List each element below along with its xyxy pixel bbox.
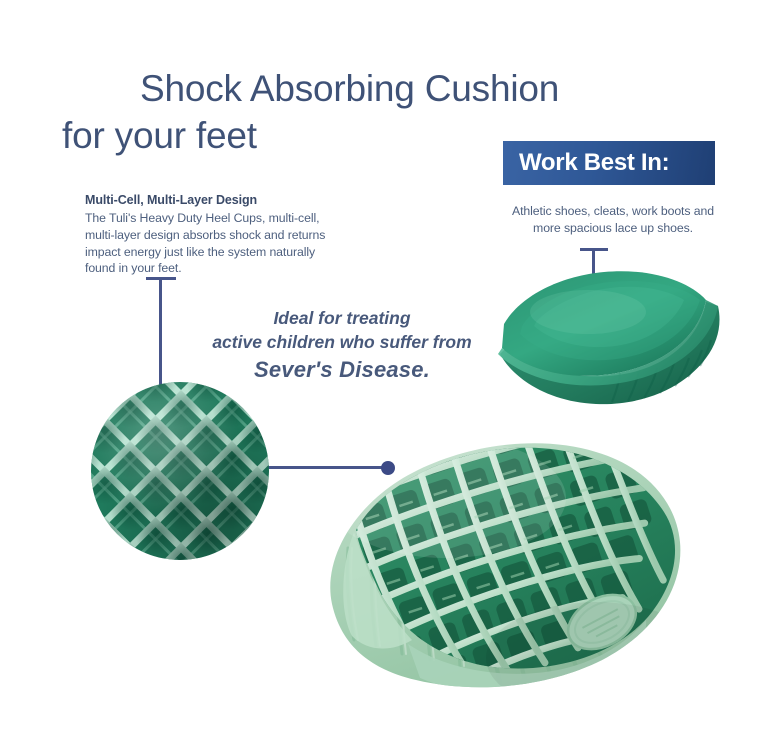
work-best-in-heading: Work Best In: <box>503 149 669 177</box>
main-product-image <box>296 408 688 706</box>
feature-description-block: Multi-Cell, Multi-Layer Design The Tuli'… <box>85 192 337 277</box>
callout-line-2: active children who suffer from <box>196 330 488 354</box>
magnified-detail-circle <box>91 382 269 560</box>
work-best-in-body: Athletic shoes, cleats, work boots and m… <box>505 203 721 237</box>
feature-title: Multi-Cell, Multi-Layer Design <box>85 192 337 209</box>
work-best-in-header: Work Best In: <box>503 141 715 185</box>
sever-disease-callout: Ideal for treating active children who s… <box>196 306 488 386</box>
feature-body: The Tuli's Heavy Duty Heel Cups, multi-c… <box>85 210 337 277</box>
callout-line-1: Ideal for treating <box>196 306 488 330</box>
page-title-line-1: Shock Absorbing Cushion <box>62 66 602 113</box>
infographic-page: Shock Absorbing Cushion for your feet Mu… <box>0 0 776 742</box>
circle-lighting-overlay <box>91 382 269 560</box>
heel-cup-product-image <box>492 262 740 412</box>
leader-line-left-stem-icon <box>159 279 162 389</box>
